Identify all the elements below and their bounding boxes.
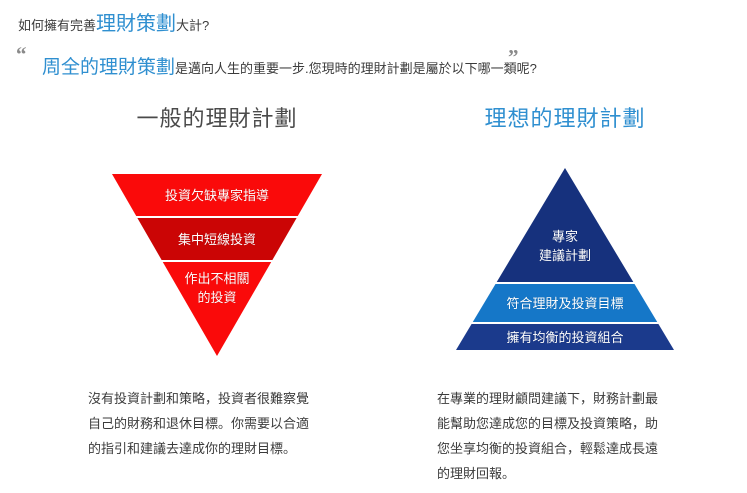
paragraph-ordinary-plan: 沒有投資計劃和策略，投資者很難察覺自己的財務和退休目標。你需要以合適的指引和建議… (88, 386, 314, 461)
quote-open-icon: “ (16, 44, 27, 65)
quote-lead: 周全的理財策劃 (42, 57, 175, 78)
pyramid-band-label-2: 符合理財及投資目標 (456, 284, 674, 322)
inverted-pyramid-diagram: 投資欠缺專家指導 集中短線投資 作出不相關 的投資 (112, 174, 322, 356)
column-title-ordinary: 一般的理財計劃 (52, 108, 382, 138)
upright-pyramid-diagram: 專家 建議計劃 符合理財及投資目標 擁有均衡的投資組合 (456, 168, 674, 350)
paragraph-ideal-plan: 在專業的理財顧問建議下，財務計劃最能幫助您達成您的目標及投資策略，助您坐享均衡的… (437, 386, 663, 486)
headline-prefix: 如何擁有完善 (18, 18, 96, 33)
pyramid-band-label-3: 擁有均衡的投資組合 (456, 324, 674, 350)
headline-suffix: 大計? (176, 18, 209, 33)
page-headline: 如何擁有完善理財策劃大計? (18, 14, 209, 34)
pyramid-band-label-1: 投資欠缺專家指導 (112, 174, 322, 216)
headline-highlight: 理財策劃 (96, 13, 176, 35)
column-title-ideal: 理想的理財計劃 (400, 108, 730, 138)
pyramid-band-label-1: 專家 建議計劃 (456, 216, 674, 276)
pyramid-band-label-2: 集中短線投資 (112, 218, 322, 260)
column-ideal-plan: 理想的理財計劃 專家 建議計劃 符合理財及投資目標 擁有均衡的投資組合 (400, 108, 730, 350)
pyramid-band-label-3: 作出不相關 的投資 (112, 262, 322, 314)
quote-rest: 是邁向人生的重要一步.您現時的理財計劃是屬於以下哪一類呢? (175, 61, 537, 76)
column-ordinary-plan: 一般的理財計劃 投資欠缺專家指導 集中短線投資 作出不相關 的投資 (52, 108, 382, 356)
quote-line: 周全的理財策劃是邁向人生的重要一步.您現時的理財計劃是屬於以下哪一類呢? (42, 58, 537, 77)
